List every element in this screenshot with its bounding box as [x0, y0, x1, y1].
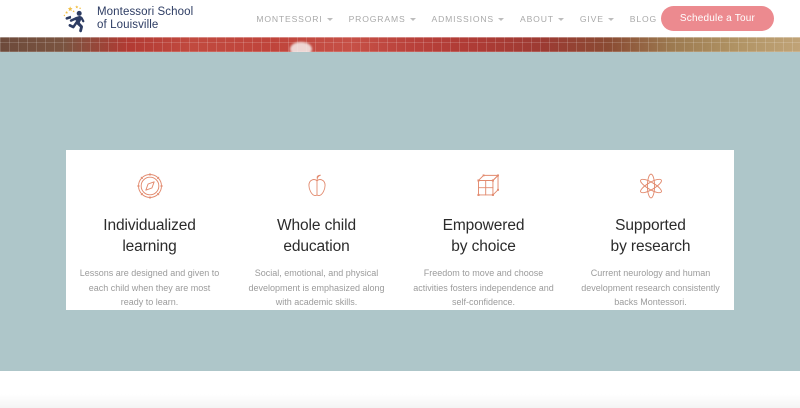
logo-wordmark: Montessori School of Louisville: [97, 6, 193, 31]
nav-item-admissions[interactable]: ADMISSIONS: [424, 14, 512, 24]
chevron-down-icon: [608, 18, 614, 21]
atom-flower-icon: [634, 165, 668, 207]
logo-line-2: of Louisville: [97, 19, 193, 32]
feature-title: Supported by research: [611, 215, 691, 257]
feature-whole-child-education: Whole child education Social, emotional,…: [233, 150, 400, 310]
nav-item-montessori[interactable]: MONTESSORI: [248, 14, 340, 24]
feature-description: Freedom to move and choose activities fo…: [413, 266, 555, 310]
chevron-down-icon: [498, 18, 504, 21]
chevron-down-icon: [558, 18, 564, 21]
page-root: Montessori School of Louisville MONTESSO…: [0, 0, 800, 408]
running-child-stars-logo-icon: [62, 5, 92, 33]
nav-label: GIVE: [580, 14, 604, 24]
nav-label: ABOUT: [520, 14, 554, 24]
nav-item-blog[interactable]: BLOG: [622, 14, 665, 24]
feature-title: Individualized learning: [103, 215, 196, 257]
nav-item-give[interactable]: GIVE: [572, 14, 622, 24]
compass-icon: [133, 165, 167, 207]
nav-item-about[interactable]: ABOUT: [512, 14, 572, 24]
chevron-down-icon: [410, 18, 416, 21]
feature-supported-by-research: Supported by research Current neurology …: [567, 150, 734, 310]
nav-label: BLOG: [630, 14, 657, 24]
nav-item-programs[interactable]: PROGRAMS: [341, 14, 424, 24]
site-header: Montessori School of Louisville MONTESSO…: [0, 0, 800, 37]
nav-label: PROGRAMS: [349, 14, 406, 24]
feature-description: Social, emotional, and physical developm…: [246, 266, 388, 310]
schedule-a-tour-button[interactable]: Schedule a Tour: [661, 6, 774, 31]
logo-line-1: Montessori School: [97, 6, 193, 18]
feature-empowered-by-choice: Empowered by choice Freedom to move and …: [400, 150, 567, 310]
below-section-area: [0, 371, 800, 408]
chevron-down-icon: [327, 18, 333, 21]
nav-label: MONTESSORI: [256, 14, 322, 24]
feature-description: Current neurology and human development …: [580, 266, 722, 310]
cube-icon: [467, 165, 501, 207]
hero-top-divider: [0, 37, 800, 38]
hero-image-strip: [0, 37, 800, 52]
feature-description: Lessons are designed and given to each c…: [79, 266, 221, 310]
feature-title: Empowered by choice: [443, 215, 525, 257]
nav-label: ADMISSIONS: [432, 14, 494, 24]
features-card: Individualized learning Lessons are desi…: [66, 150, 734, 310]
feature-title: Whole child education: [277, 215, 356, 257]
feature-individualized-learning: Individualized learning Lessons are desi…: [66, 150, 233, 310]
site-logo[interactable]: Montessori School of Louisville: [62, 5, 193, 33]
main-navigation: MONTESSORI PROGRAMS ADMISSIONS ABOUT GIV…: [248, 14, 728, 24]
apple-icon: [301, 165, 333, 207]
hero-image: [0, 37, 800, 52]
